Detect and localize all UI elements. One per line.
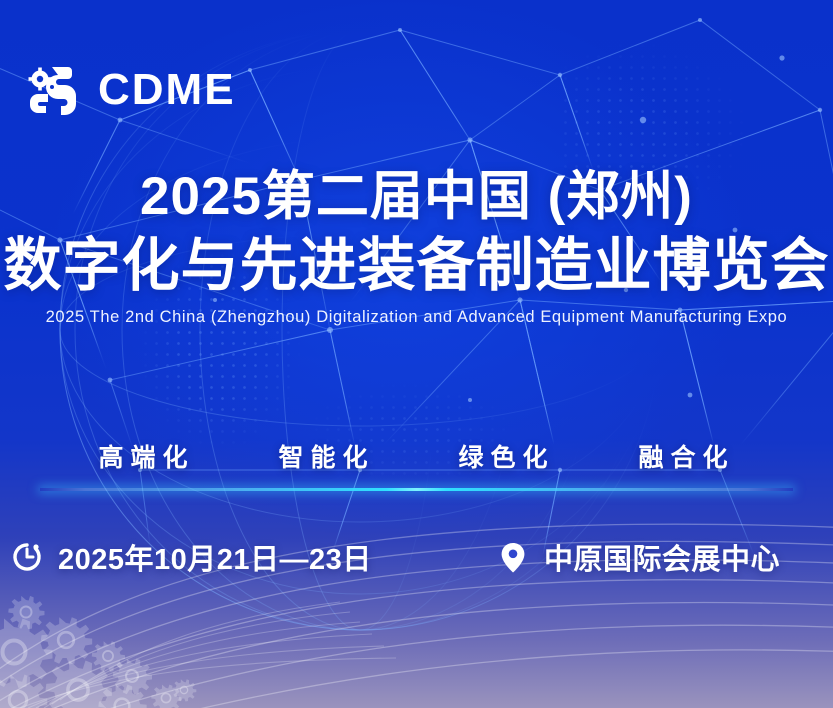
clock-icon <box>10 538 44 576</box>
event-banner: CDME 2025第二届中国 (郑州) 数字化与先进装备制造业博览会 2025 … <box>0 0 833 708</box>
cyan-divider-line <box>40 488 793 491</box>
logo-text: CDME <box>98 68 236 112</box>
event-info-row: 2025年10月21日—23日 中原国际会展中心 <box>0 536 833 596</box>
keyword-list: 高端化 智能化 绿色化 融合化 <box>0 438 833 474</box>
event-venue: 中原国际会展中心 <box>496 536 780 578</box>
keyword-item-1: 高端化 <box>98 438 194 474</box>
keyword-item-4: 融合化 <box>639 438 735 474</box>
keyword-item-2: 智能化 <box>278 438 374 474</box>
event-date-text: 2025年10月21日—23日 <box>58 536 372 578</box>
location-pin-icon <box>496 538 530 576</box>
brand-logo: CDME <box>22 55 236 125</box>
event-venue-text: 中原国际会展中心 <box>544 536 780 578</box>
title-block: 2025第二届中国 (郑州) 数字化与先进装备制造业博览会 2025 The 2… <box>0 168 833 327</box>
event-date: 2025年10月21日—23日 <box>10 536 372 578</box>
keyword-item-3: 绿色化 <box>459 438 555 474</box>
subtitle-english: 2025 The 2nd China (Zhengzhou) Digitaliz… <box>0 308 833 327</box>
title-line-2: 数字化与先进装备制造业博览会 <box>0 235 833 298</box>
title-line-1: 2025第二届中国 (郑州) <box>0 168 833 225</box>
cdme-gear-s-logo-icon <box>22 59 84 121</box>
